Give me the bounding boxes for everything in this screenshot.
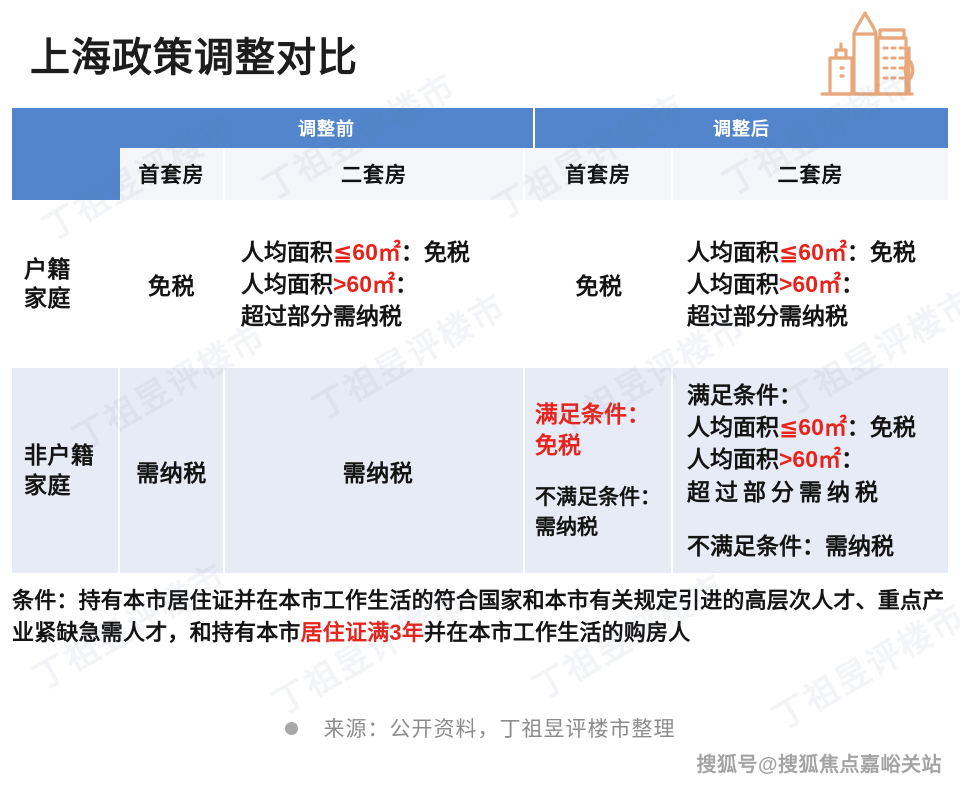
cell-line-1: 满足条件：: [687, 379, 802, 411]
row-label-line-1: 户籍: [24, 255, 71, 284]
line-suffix: ：免税: [847, 239, 916, 265]
cell-after-second-home-r1: 人均面积≦60㎡：免税 人均面积>60㎡： 超过部分需纳税: [673, 200, 948, 368]
row-label-line-1: 非户籍: [24, 441, 95, 470]
source-text: 来源：公开资料，丁祖昱评楼市整理: [324, 713, 676, 743]
subheader-after-second-home: 二套房: [673, 148, 948, 200]
group-header-after: 调整后: [535, 108, 948, 148]
line-prefix: 人均面积: [241, 271, 333, 297]
row-label-nonregistered-household: 非户籍 家庭: [12, 368, 120, 573]
line-prefix: 人均面积: [241, 239, 333, 265]
cell-line-condition-met-value: 免税: [535, 430, 581, 461]
row-label-line-2: 家庭: [24, 471, 71, 500]
line-highlight: >60㎡: [779, 271, 841, 297]
row-label-registered-household: 户籍 家庭: [12, 200, 120, 368]
source-row: 来源：公开资料，丁祖昱评楼市整理: [0, 713, 960, 743]
cell-value: 免税: [535, 267, 663, 301]
cell-after-first-home-r2: 满足条件： 免税 不满足条件： 需纳税: [525, 368, 673, 573]
line-highlight: >60㎡: [333, 271, 395, 297]
cell-line-1: 人均面积≦60㎡：免税: [241, 236, 470, 268]
cell-line-5: 不满足条件：需纳税: [687, 530, 894, 562]
cell-line-condition-met-label: 满足条件：: [535, 399, 650, 430]
line-suffix: ：免税: [847, 414, 916, 440]
brand-watermark: 搜狐号@搜狐焦点嘉峪关站: [696, 748, 942, 777]
line-highlight: >60㎡: [779, 446, 841, 472]
group-header-before: 调整前: [120, 108, 533, 148]
cell-value: 免税: [128, 267, 215, 301]
page-header: 上海政策调整对比: [0, 0, 960, 108]
cell-line-3: 人均面积>60㎡：: [687, 443, 864, 475]
cell-line-2: 人均面积>60㎡：: [687, 268, 864, 300]
table-corner-cell-lower: [12, 148, 120, 200]
cell-after-first-home-r1: 免税: [525, 200, 673, 368]
table-group-header-row: 调整前 调整后: [12, 108, 948, 148]
cell-value: 需纳税: [241, 454, 515, 488]
line-highlight: ≦60㎡: [333, 239, 401, 265]
line-suffix: ：免税: [401, 239, 470, 265]
subheader-before-first-home: 首套房: [120, 148, 225, 200]
cell-before-first-home-r1: 免税: [120, 200, 225, 368]
line-prefix: 人均面积: [687, 446, 779, 472]
cell-before-second-home-r2: 需纳税: [225, 368, 525, 573]
subheader-before-second-home: 二套房: [225, 148, 525, 200]
cell-line-3: 超过部分需纳税: [687, 300, 848, 332]
line-highlight: ≦60㎡: [779, 414, 847, 440]
policy-comparison-table: 调整前 调整后 首套房 二套房 首套房 二套房 户籍 家庭 免税 人均面积≦60…: [12, 108, 948, 573]
table-subheader-row: 首套房 二套房 首套房 二套房: [12, 148, 948, 200]
table-row: 非户籍 家庭 需纳税 需纳税 满足条件： 免税 不满足条件： 需纳税 满足条件：…: [12, 368, 948, 573]
cell-after-second-home-r2: 满足条件： 人均面积≦60㎡：免税 人均面积>60㎡： 超过部分需纳税 不满足条…: [673, 368, 948, 573]
subheader-after-first-home: 首套房: [525, 148, 673, 200]
cell-line-2: 人均面积≦60㎡：免税: [687, 411, 916, 443]
cell-line-3: 超过部分需纳税: [241, 300, 402, 332]
page-title: 上海政策调整对比: [30, 25, 358, 83]
city-skyline-icon: [808, 8, 918, 100]
cell-line-1: 人均面积≦60㎡：免税: [687, 236, 916, 268]
cell-before-second-home-r1: 人均面积≦60㎡：免税 人均面积>60㎡： 超过部分需纳税: [225, 200, 525, 368]
cell-line-condition-unmet-value: 需纳税: [535, 513, 598, 542]
cell-value: 需纳税: [128, 454, 215, 488]
footnote-conditions: 条件：持有本市居住证并在本市工作生活的符合国家和本市有关规定引进的高层次人才、重…: [12, 585, 948, 649]
table-corner-cell: [12, 108, 120, 148]
line-highlight: ≦60㎡: [779, 239, 847, 265]
cell-before-first-home-r2: 需纳税: [120, 368, 225, 573]
line-suffix: ：: [395, 271, 418, 297]
cell-line-4: 超过部分需纳税: [687, 476, 883, 508]
line-suffix: ：: [841, 446, 864, 472]
footnote-highlight: 居住证满3年: [301, 620, 424, 645]
line-prefix: 人均面积: [687, 239, 779, 265]
footnote-part-2: 并在本市工作生活的购房人: [424, 620, 690, 645]
cell-line-condition-unmet-label: 不满足条件：: [535, 483, 661, 512]
line-prefix: 人均面积: [687, 414, 779, 440]
table-row: 户籍 家庭 免税 人均面积≦60㎡：免税 人均面积>60㎡： 超过部分需纳税 免…: [12, 200, 948, 368]
row-label-line-2: 家庭: [24, 284, 71, 313]
cell-line-2: 人均面积>60㎡：: [241, 268, 418, 300]
line-prefix: 人均面积: [687, 271, 779, 297]
line-suffix: ：: [841, 271, 864, 297]
bullet-dot-icon: [285, 722, 298, 735]
